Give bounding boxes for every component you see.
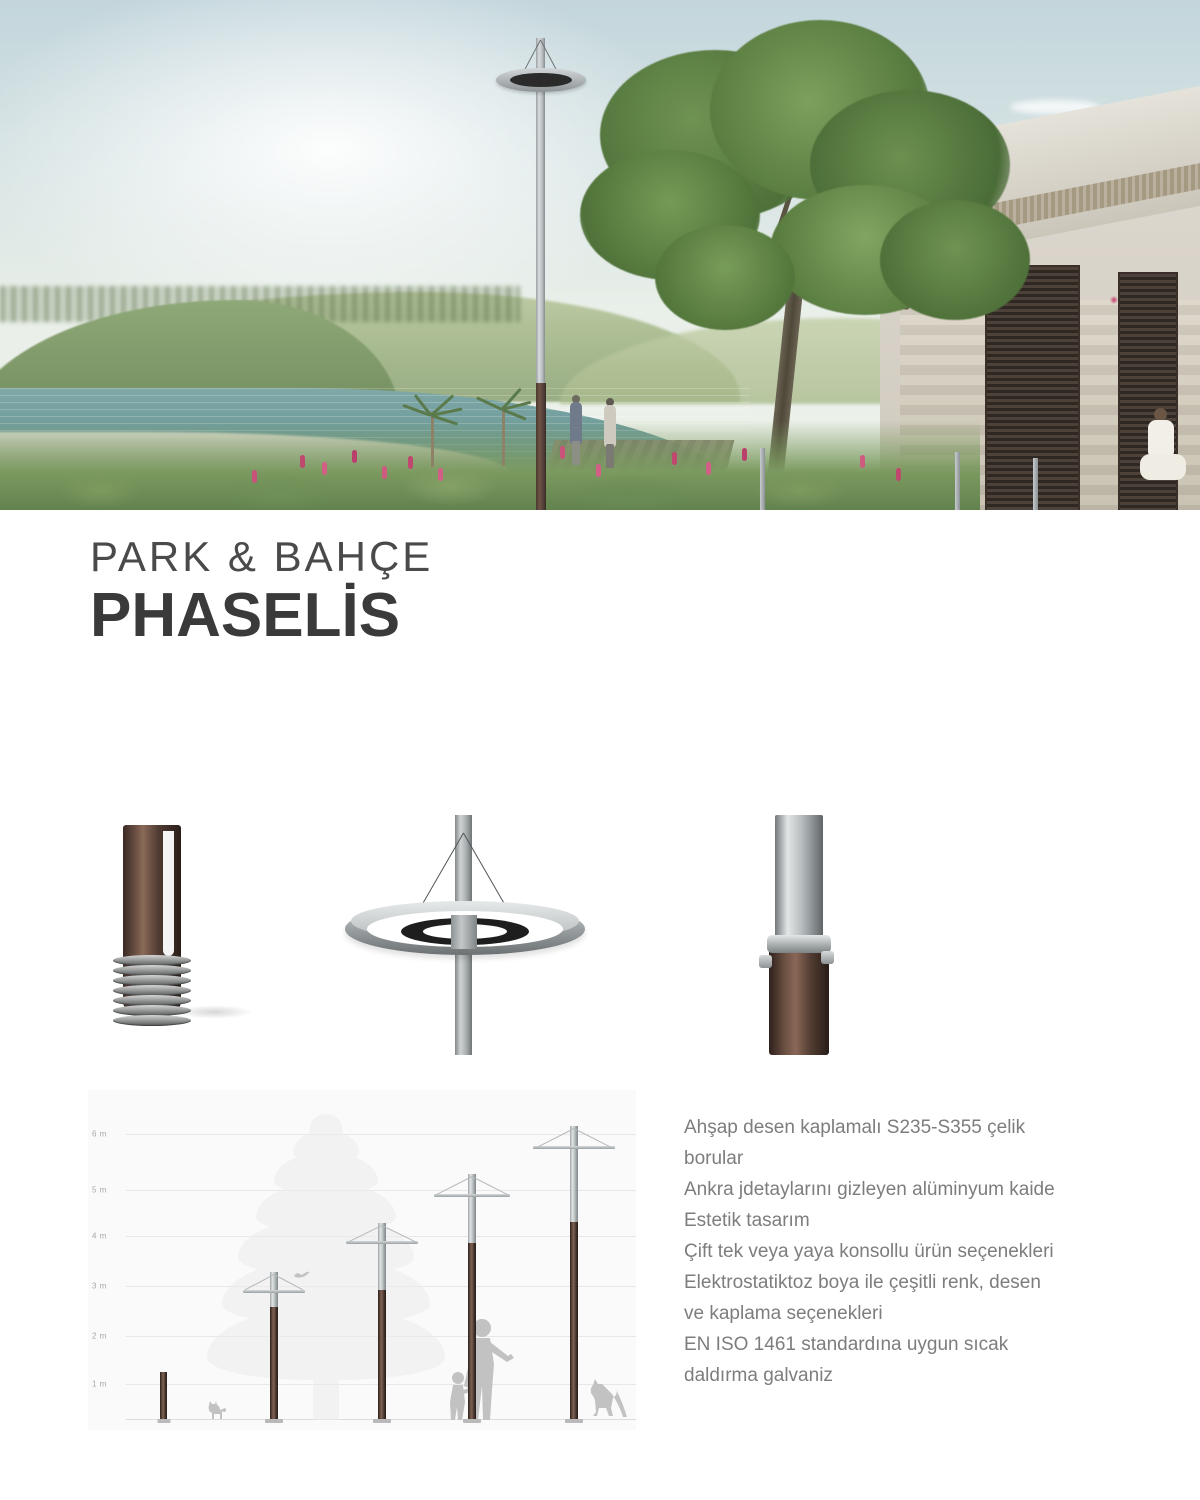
luminaire-arm (346, 1241, 418, 1244)
pole-base-plate (265, 1419, 283, 1423)
pole-brown-section (468, 1243, 476, 1420)
pole-brown-section (570, 1222, 578, 1420)
product-detail-pole-joint (745, 815, 875, 1055)
support-stay (472, 1176, 508, 1195)
brown-pole-section (769, 948, 829, 1055)
feature-line: Estetik tasarım (684, 1205, 1179, 1236)
luminaire-arm (533, 1146, 615, 1149)
feature-line: Ankra jdetaylarını gizleyen alüminyum ka… (684, 1174, 1179, 1205)
luminaire-arm (243, 1290, 305, 1293)
flower (352, 450, 357, 463)
product-name-label: PHASELİS (90, 583, 433, 650)
luminaire-lens (510, 73, 572, 87)
product-category-label: PARK & BAHÇE (90, 535, 433, 579)
chart-pole-6m (570, 1126, 578, 1420)
pole-silver-section (570, 1126, 578, 1222)
feature-line: EN ISO 1461 standardına uygun sıcak dald… (684, 1329, 1179, 1391)
luminaire-arm (434, 1194, 510, 1197)
pine-tree-silhouette (206, 1120, 446, 1420)
y-axis-tick-label: 4 m (92, 1232, 107, 1241)
y-axis-tick-label: 2 m (92, 1332, 107, 1341)
flower (596, 464, 601, 477)
cat-silhouette (206, 1400, 228, 1420)
tree-canopy (880, 200, 1030, 320)
pole-base-plate (373, 1419, 391, 1423)
feature-line: Çift tek veya yaya konsollu ürün seçenek… (684, 1236, 1179, 1267)
chart-pole-3m (270, 1272, 278, 1420)
path-bollard-light (955, 452, 960, 510)
chart-pole-1m (160, 1372, 167, 1420)
collar-bolt (759, 955, 772, 968)
flower (742, 448, 747, 461)
chart-pole-5m (468, 1174, 476, 1420)
page-title: PARK & BAHÇE PHASELİS (90, 535, 433, 650)
flower-bed-planting (0, 420, 980, 510)
feature-line: Ahşap desen kaplamalı S235-S355 çelik bo… (684, 1112, 1179, 1174)
y-axis-tick-label: 1 m (92, 1380, 107, 1389)
product-detail-luminaire-head (345, 815, 605, 1055)
flower (860, 455, 865, 468)
pole-base-plate (463, 1419, 481, 1423)
flower (896, 468, 901, 481)
anchor-coil-ring (113, 1015, 191, 1026)
dog-silhouette (586, 1378, 628, 1420)
phaselis-lighting-pole (496, 20, 586, 510)
path-bollard-light (1033, 458, 1038, 510)
pole-lower-section (536, 383, 546, 510)
silver-pole-section (775, 815, 823, 943)
pole-brown-section (270, 1307, 278, 1420)
y-axis-tick-label: 3 m (92, 1282, 107, 1291)
bird-silhouette (293, 1270, 311, 1280)
product-detail-gallery (0, 805, 1200, 1055)
y-axis-tick-label: 6 m (92, 1130, 107, 1139)
feature-line: Elektrostatiktoz boya ile çeşitli renk, … (684, 1267, 1179, 1329)
tree-canopy (655, 225, 795, 330)
flower (706, 462, 711, 475)
pole-silver-section (378, 1223, 386, 1290)
flower (672, 452, 677, 465)
flower (408, 456, 413, 469)
pole-slot-cutout (163, 831, 174, 956)
collar-bolt (821, 951, 834, 964)
path-bollard-light (760, 448, 765, 510)
product-detail-anchor-base (105, 825, 235, 1045)
flower (300, 455, 305, 468)
pole-base-plate (157, 1419, 170, 1423)
person-seated (1140, 408, 1186, 498)
flower (252, 470, 257, 483)
product-feature-list: Ahşap desen kaplamalı S235-S355 çelik bo… (684, 1112, 1179, 1391)
joint-collar (767, 935, 831, 953)
flower (322, 462, 327, 475)
person-walking (602, 398, 618, 464)
olive-tree (560, 10, 1060, 490)
height-scale-chart: 6 m 5 m 4 m 3 m 2 m 1 m (88, 1090, 636, 1430)
luminaire-hub (451, 915, 477, 949)
adult-and-child-silhouette (444, 1312, 516, 1420)
flower (382, 466, 387, 479)
flower (438, 468, 443, 481)
pole-brown-section (160, 1372, 167, 1420)
pole-brown-section (378, 1290, 386, 1420)
hero-image (0, 0, 1200, 510)
pole-base-plate (565, 1419, 583, 1423)
chart-pole-4m (378, 1223, 386, 1420)
pole-silver-section (468, 1174, 476, 1243)
y-axis-tick-label: 5 m (92, 1186, 107, 1195)
